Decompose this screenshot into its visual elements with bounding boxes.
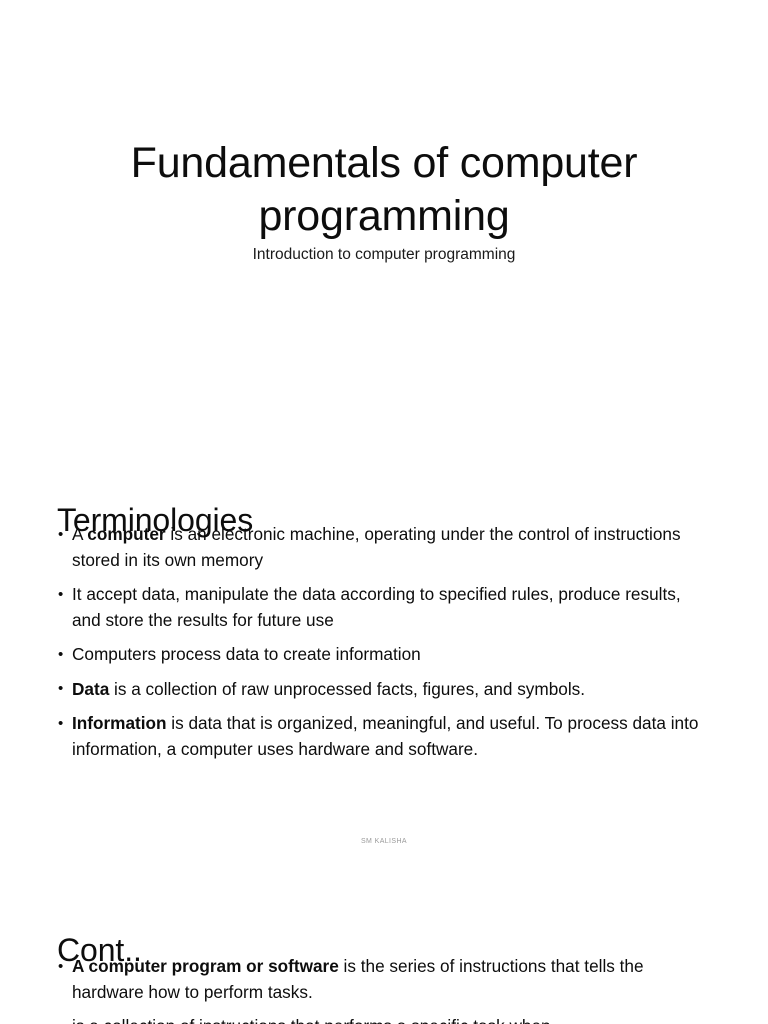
terminologies-slide: Terminologies A computer is an electroni… xyxy=(0,466,768,886)
list-item: A computer is an electronic machine, ope… xyxy=(57,522,702,573)
title-slide: Fundamentals of computer programming Int… xyxy=(0,0,768,460)
list-item: is a collection of instructions that per… xyxy=(57,1014,702,1024)
bullet-body-text: Computers process data to create informa… xyxy=(72,644,421,664)
bullet-bold-term: A computer program or software xyxy=(72,956,339,976)
slide-footer-credit: SM KALISHA xyxy=(0,838,768,845)
list-item: Information is data that is organized, m… xyxy=(57,711,702,762)
page-title: Fundamentals of computer programming xyxy=(104,137,664,243)
bullet-body-text: is data that is organized, meaningful, a… xyxy=(72,713,698,759)
list-item: A computer program or software is the se… xyxy=(57,954,702,1005)
list-item: Computers process data to create informa… xyxy=(57,642,702,668)
bullet-lead-text: A xyxy=(72,524,87,544)
list-item: It accept data, manipulate the data acco… xyxy=(57,582,702,633)
terminologies-bullet-list: A computer is an electronic machine, ope… xyxy=(57,522,702,762)
bullet-bold-term: Data xyxy=(72,679,109,699)
bullet-body-text: It accept data, manipulate the data acco… xyxy=(72,584,681,630)
document-page: Fundamentals of computer programming Int… xyxy=(0,0,768,1024)
bullet-body-text: is a collection of raw unprocessed facts… xyxy=(109,679,585,699)
bullet-bold-term: computer xyxy=(87,524,165,544)
bullet-bold-term: Information xyxy=(72,713,167,733)
list-item: Data is a collection of raw unprocessed … xyxy=(57,677,702,703)
page-subtitle: Introduction to computer programming xyxy=(104,244,664,266)
continuation-bullet-list: A computer program or software is the se… xyxy=(57,954,702,1024)
continuation-slide: Cont.. A computer program or software is… xyxy=(0,896,768,1024)
bullet-body-text: is a collection of instructions that per… xyxy=(72,1016,551,1024)
